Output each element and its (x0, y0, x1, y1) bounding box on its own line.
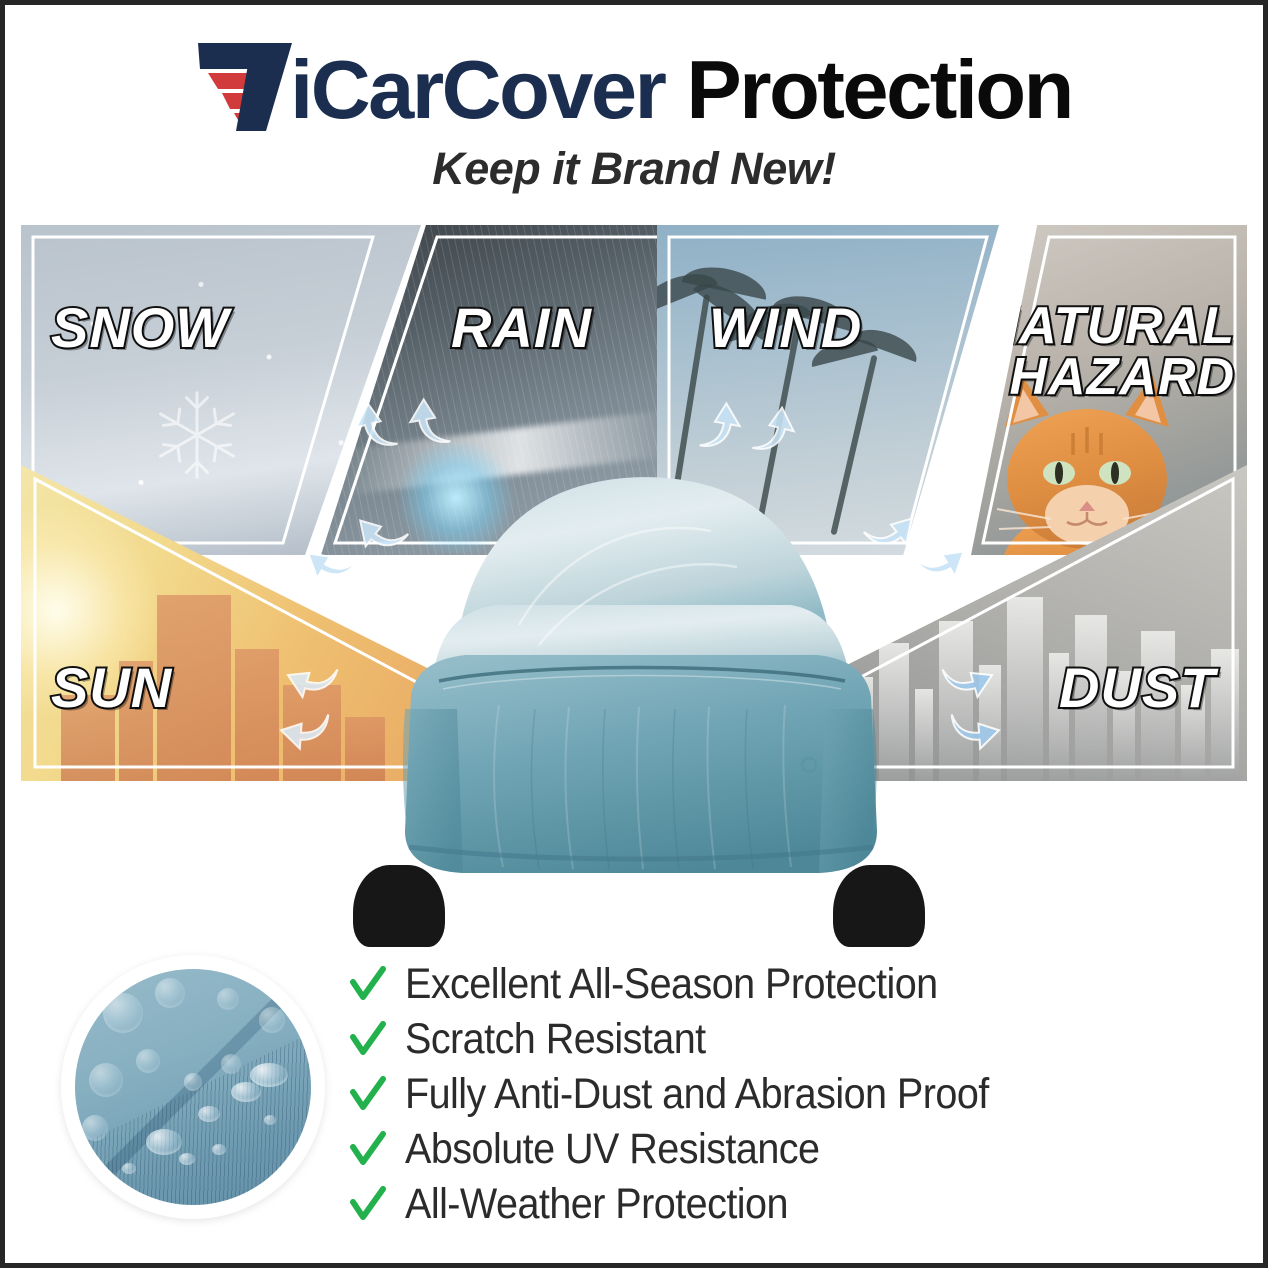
deflection-arrow-icon (945, 707, 1002, 757)
feature-label: All-Weather Protection (405, 1180, 788, 1229)
front-left-tire (353, 865, 445, 947)
feature-item: All-Weather Protection (349, 1177, 1189, 1232)
panel-dust-label: DUST (1059, 661, 1215, 716)
panel-rain-label: RAIN (451, 301, 592, 356)
product-infographic-frame: iCarCover Protection Keep it Brand New! … (0, 0, 1268, 1268)
brand-suffix: Protection (686, 48, 1071, 131)
deflection-arrow-icon (401, 393, 456, 454)
deflection-arrow-icon (277, 707, 334, 757)
check-icon (349, 1131, 387, 1169)
brand-header: iCarCover Protection (5, 27, 1263, 147)
check-icon (349, 1021, 387, 1059)
fabric-swatch (75, 969, 311, 1205)
tagline: Keep it Brand New! (5, 143, 1263, 195)
feature-label: Fully Anti-Dust and Abrasion Proof (405, 1070, 989, 1119)
feature-item: Excellent All-Season Protection (349, 957, 1189, 1012)
front-right-tire (833, 865, 925, 947)
snowflake-icon (149, 387, 245, 483)
feature-item: Absolute UV Resistance (349, 1122, 1189, 1177)
feature-label: Absolute UV Resistance (405, 1125, 819, 1174)
feature-list: Excellent All-Season Protection Scratch … (349, 957, 1189, 1232)
feature-item: Scratch Resistant (349, 1012, 1189, 1067)
check-icon (349, 966, 387, 1004)
panel-hazard-label: NATURAL HAZARD (979, 301, 1235, 403)
covered-car-product-image (339, 435, 939, 949)
panel-wind-label: WIND (709, 301, 862, 356)
check-icon (349, 1186, 387, 1224)
weave-texture (89, 1038, 311, 1205)
feature-label: Scratch Resistant (405, 1015, 706, 1064)
panel-sun-label: SUN (51, 661, 172, 716)
check-icon (349, 1076, 387, 1114)
brand-name: iCarCover (290, 48, 664, 131)
feature-label: Excellent All-Season Protection (405, 960, 938, 1009)
water-beading-fabric-badge (61, 955, 325, 1219)
feature-item: Fully Anti-Dust and Abrasion Proof (349, 1067, 1189, 1122)
weather-protection-collage: SNOW RAIN (21, 219, 1247, 949)
deflection-arrow-icon (695, 397, 750, 458)
panel-snow-label: SNOW (51, 301, 229, 356)
